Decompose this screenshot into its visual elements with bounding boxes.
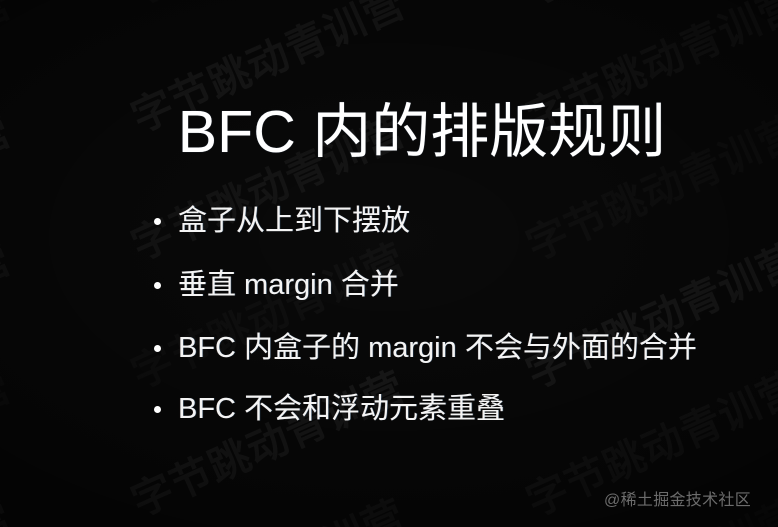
list-item: 垂直 margin 合并 (150, 269, 760, 303)
bullet-dot-icon (154, 345, 161, 352)
list-item-label: BFC 不会和浮动元素重叠 (178, 393, 505, 425)
list-item-label: 垂直 margin 合并 (178, 269, 399, 301)
list-item-label: 盒子从上到下摆放 (178, 205, 410, 237)
bullet-dot-icon (154, 282, 161, 289)
presentation-slide: 字节跳动青训营 字节跳动青训营 字节跳动青训营 字节跳动青训营 字节跳动青训营 … (0, 0, 778, 527)
list-item: 盒子从上到下摆放 (150, 205, 760, 239)
list-item: BFC 不会和浮动元素重叠 (150, 393, 760, 427)
bullet-dot-icon (154, 406, 161, 413)
community-watermark: @稀土掘金技术社区 (604, 486, 751, 510)
slide-title: BFC 内的排版规则 (0, 102, 778, 164)
list-item-label: BFC 内盒子的 margin 不会与外面的合并 (178, 332, 697, 364)
bullet-dot-icon (154, 218, 161, 225)
bullet-list: 盒子从上到下摆放 垂直 margin 合并 BFC 内盒子的 margin 不会… (150, 205, 760, 427)
slide-content: BFC 内的排版规则 盒子从上到下摆放 垂直 margin 合并 BFC 内盒子… (0, 0, 778, 527)
list-item: BFC 内盒子的 margin 不会与外面的合并 (150, 332, 760, 366)
